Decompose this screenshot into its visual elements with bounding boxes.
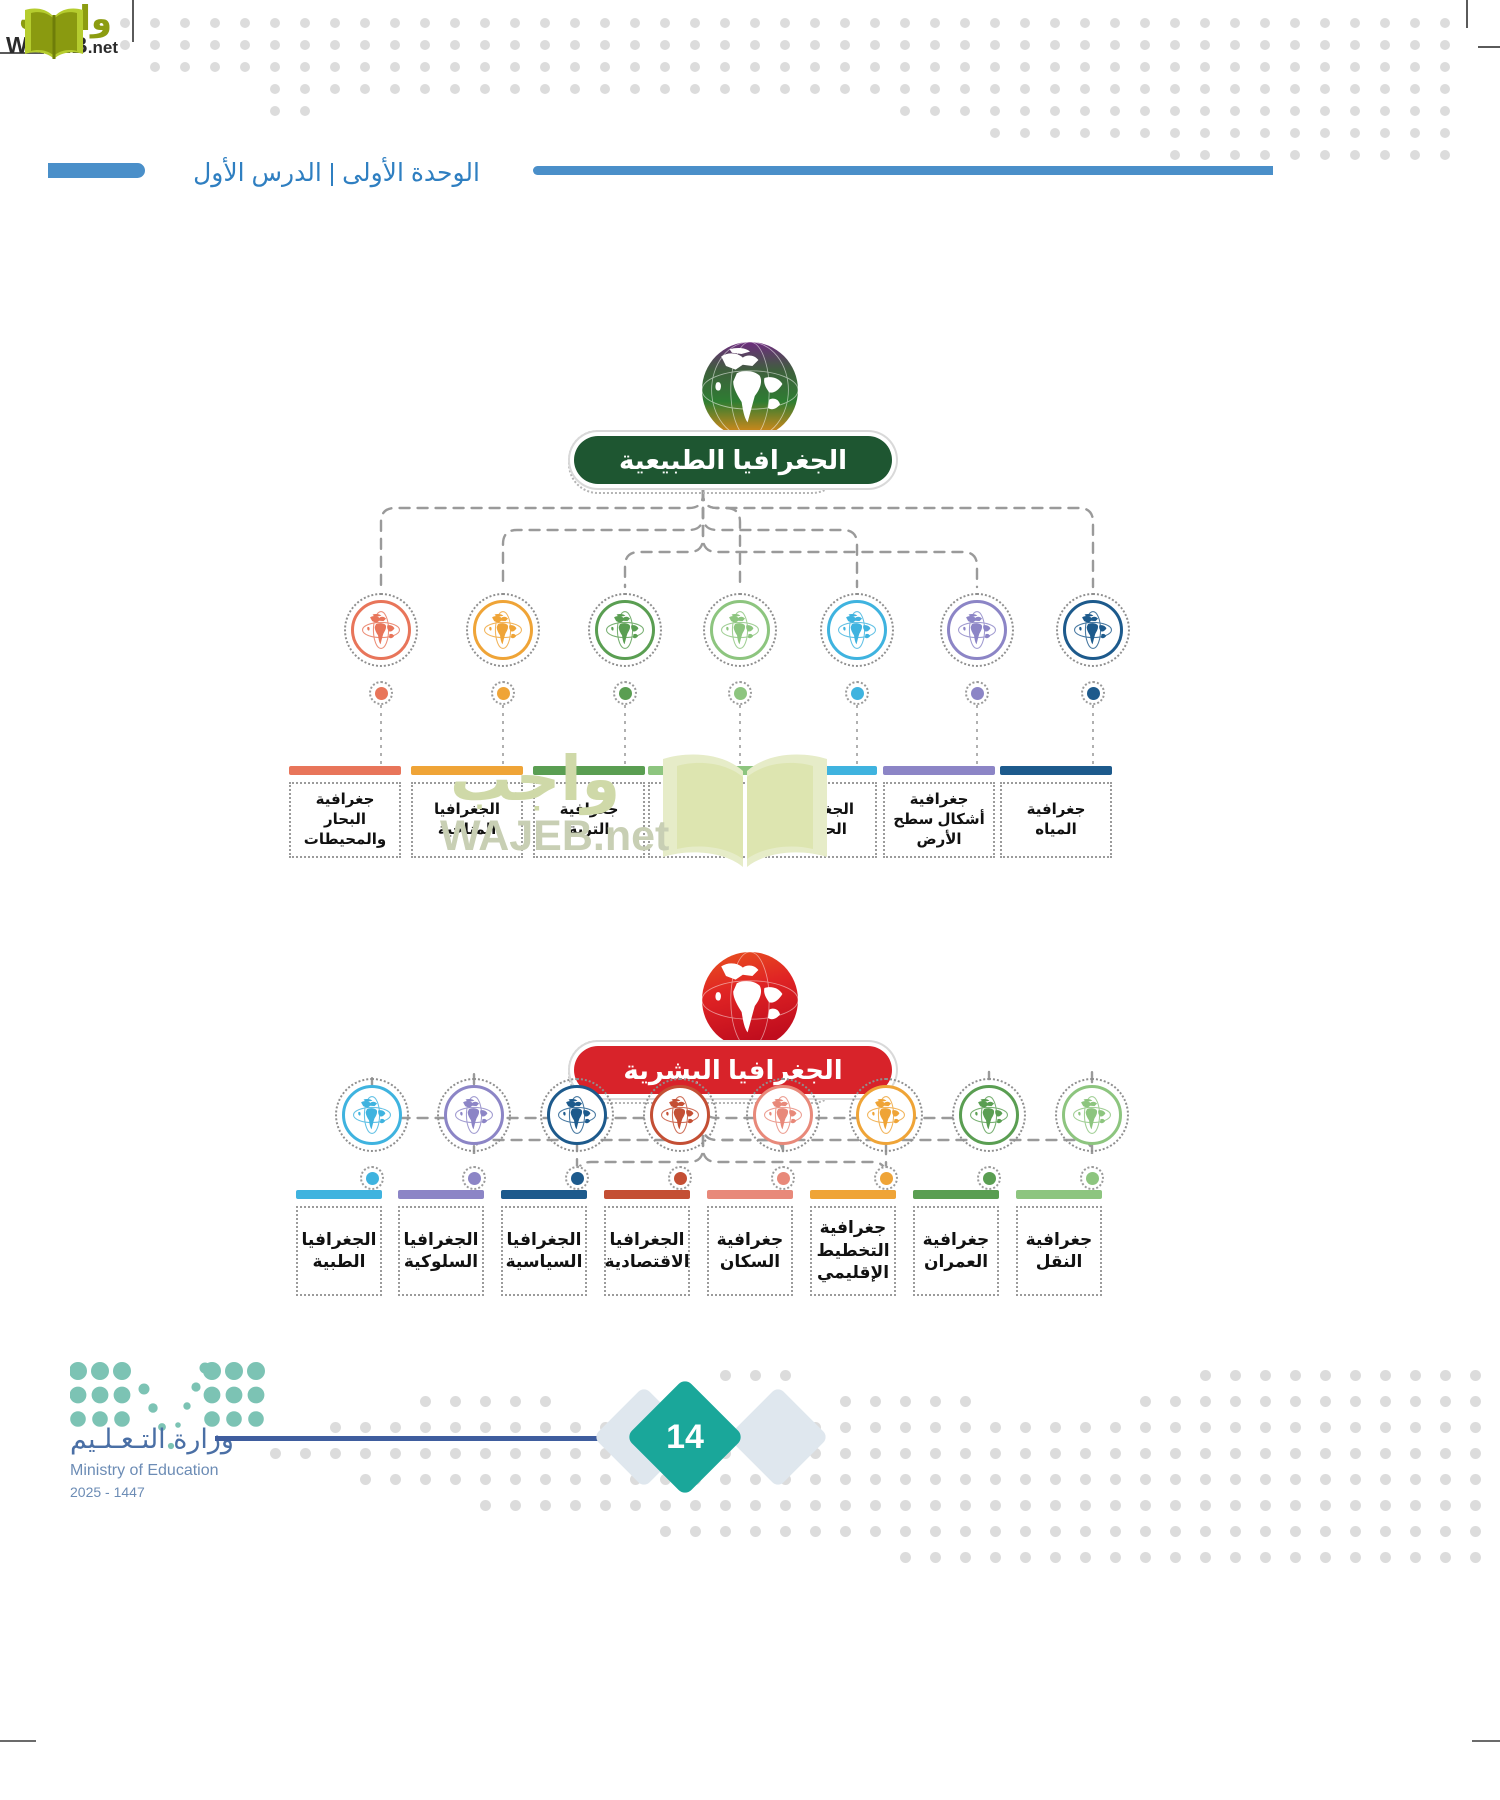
card-label: الجغرافيا الطبية — [296, 1206, 382, 1296]
node-icon-ring — [650, 1085, 710, 1145]
card-label: الجغرافيا الاقتصادية — [604, 1206, 690, 1296]
node-connector-dot — [874, 1166, 898, 1190]
node-connector-dot — [845, 681, 869, 705]
branch-node[interactable] — [344, 593, 418, 705]
globe-icon — [659, 1094, 701, 1136]
card-label: الجغرافيا السياسية — [501, 1206, 587, 1296]
connector-lines — [0, 0, 1500, 1800]
card-color-bar — [533, 766, 645, 775]
branch-node[interactable] — [437, 1078, 511, 1190]
branch-node[interactable] — [703, 593, 777, 705]
branch-node[interactable] — [940, 593, 1014, 705]
node-icon-ring — [1062, 1085, 1122, 1145]
node-connector-dot — [1081, 681, 1105, 705]
card-color-bar — [398, 1190, 484, 1199]
node-icon-ring — [1063, 600, 1123, 660]
node-connector-dot — [491, 681, 515, 705]
globe-icon — [865, 1094, 907, 1136]
crop-mark-bottom-right — [1472, 1740, 1500, 1742]
card-label: جغرافية النقل — [1016, 1206, 1102, 1296]
branch-node[interactable] — [643, 1078, 717, 1190]
geography-branches-diagram: الجغرافيا الطبيعية الجغرافيا البشرية جغر… — [0, 0, 1500, 1800]
card-color-bar — [810, 1190, 896, 1199]
card-color-bar — [1000, 766, 1112, 775]
node-icon-ring — [959, 1085, 1019, 1145]
node-connector-dot — [369, 681, 393, 705]
crop-mark-bottom-left — [0, 1740, 36, 1742]
globe-icon — [1072, 609, 1114, 651]
node-connector-dot — [1080, 1166, 1104, 1190]
card-color-bar — [765, 766, 877, 775]
card-label: جغرافية العمران — [913, 1206, 999, 1296]
branch-node[interactable] — [540, 1078, 614, 1190]
branch-node[interactable] — [1055, 1078, 1129, 1190]
node-connector-dot — [771, 1166, 795, 1190]
globe-icon — [351, 1094, 393, 1136]
card-color-bar — [1016, 1190, 1102, 1199]
branch-node[interactable] — [820, 593, 894, 705]
globe-icon — [1071, 1094, 1113, 1136]
node-icon-ring — [351, 600, 411, 660]
node-icon-ring — [473, 600, 533, 660]
branch-title-human: الجغرافيا البشرية — [574, 1046, 892, 1094]
globe-icon — [956, 609, 998, 651]
node-connector-dot — [360, 1166, 384, 1190]
globe-icon — [453, 1094, 495, 1136]
card-label: الجغرافيا المناخية — [411, 782, 523, 858]
node-connector-dot — [565, 1166, 589, 1190]
node-connector-dot — [462, 1166, 486, 1190]
page-number: 14 — [643, 1395, 727, 1479]
branch-node[interactable] — [849, 1078, 923, 1190]
node-connector-dot — [668, 1166, 692, 1190]
card-label: جغرافية التربة — [533, 782, 645, 858]
ministry-name-en: Ministry of Education — [70, 1462, 219, 1480]
card-color-bar — [648, 766, 760, 775]
node-icon-ring — [595, 600, 655, 660]
branch-node[interactable] — [335, 1078, 409, 1190]
node-icon-ring — [342, 1085, 402, 1145]
branch-node[interactable] — [1056, 593, 1130, 705]
card-color-bar — [411, 766, 523, 775]
branch-node[interactable] — [952, 1078, 1026, 1190]
node-icon-ring — [947, 600, 1007, 660]
card-label: الجغرافيا السلوكية — [398, 1206, 484, 1296]
card-color-bar — [604, 1190, 690, 1199]
node-connector-dot — [977, 1166, 1001, 1190]
node-icon-ring — [856, 1085, 916, 1145]
card-label: الجغرافيا الحيوية — [765, 782, 877, 858]
card-label: الجغرافيا الفلكية — [648, 782, 760, 858]
node-icon-ring — [753, 1085, 813, 1145]
card-color-bar — [501, 1190, 587, 1199]
node-connector-dot — [965, 681, 989, 705]
card-label: جغرافية التخطيط الإقليمي — [810, 1206, 896, 1296]
node-icon-ring — [710, 600, 770, 660]
node-icon-ring — [547, 1085, 607, 1145]
branch-node[interactable] — [466, 593, 540, 705]
globe-icon — [360, 609, 402, 651]
globe-icon — [968, 1094, 1010, 1136]
card-color-bar — [296, 1190, 382, 1199]
node-icon-ring — [827, 600, 887, 660]
ministry-year: 2025 - 1447 — [70, 1484, 145, 1500]
card-label: جغرافية المياه — [1000, 782, 1112, 858]
node-icon-ring — [444, 1085, 504, 1145]
card-label: جغرافية البحار والمحيطات — [289, 782, 401, 858]
branch-title-physical: الجغرافيا الطبيعية — [574, 436, 892, 484]
globe-icon — [762, 1094, 804, 1136]
globe-icon — [556, 1094, 598, 1136]
globe-icon — [836, 609, 878, 651]
card-label: جغرافية السكان — [707, 1206, 793, 1296]
branch-node[interactable] — [588, 593, 662, 705]
card-label: جغرافية أشكال سطح الأرض — [883, 782, 995, 858]
node-connector-dot — [728, 681, 752, 705]
card-color-bar — [707, 1190, 793, 1199]
globe-icon — [482, 609, 524, 651]
globe-icon — [604, 609, 646, 651]
card-color-bar — [883, 766, 995, 775]
globe-icon — [719, 609, 761, 651]
card-color-bar — [289, 766, 401, 775]
branch-node[interactable] — [746, 1078, 820, 1190]
card-color-bar — [913, 1190, 999, 1199]
node-connector-dot — [613, 681, 637, 705]
